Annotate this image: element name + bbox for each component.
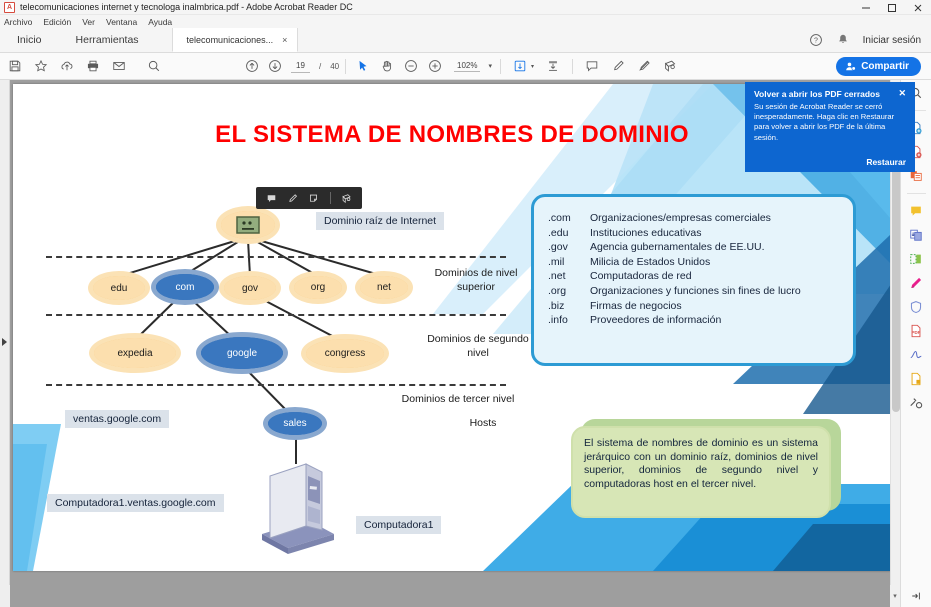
notification-body: Su sesión de Acrobat Reader se cerró ine…: [754, 102, 906, 143]
node-gov-label: gov: [242, 283, 258, 294]
tld-row: .edu Instituciones educativas: [548, 226, 843, 241]
hand-tool-icon[interactable]: [380, 59, 394, 73]
tab-herramientas[interactable]: Herramientas: [59, 28, 156, 52]
node-congress-inner: congress: [306, 339, 384, 368]
acrobat-app-icon: A: [4, 2, 15, 13]
compress-pdf-icon[interactable]: [907, 250, 925, 268]
share-label: Compartir: [861, 61, 909, 72]
floating-annotation-toolbar: [256, 187, 362, 209]
highlight-icon[interactable]: [611, 59, 625, 73]
tld-desc: Organizaciones/empresas comerciales: [590, 211, 843, 226]
previous-page-icon[interactable]: [245, 59, 259, 73]
chevron-down-icon[interactable]: ▾: [488, 62, 492, 70]
comment-tool-icon[interactable]: [907, 202, 925, 220]
print-icon[interactable]: [86, 59, 100, 73]
tld-name: .biz: [548, 299, 590, 314]
node-sales[interactable]: sales: [268, 412, 322, 435]
window-title: telecomunicaciones internet y tecnologa …: [20, 2, 353, 12]
label-second-level-domains: Dominios de segundo nivel: [423, 332, 533, 360]
tld-desc: Computadoras de red: [590, 269, 843, 284]
tab-document-label: telecomunicaciones...: [187, 35, 274, 45]
summary-text-box: El sistema de nombres de dominio es un s…: [571, 426, 831, 518]
notification-title: Volver a abrir los PDF cerrados: [754, 89, 880, 99]
callout-computadora1-fqdn: Computadora1.ventas.google.com: [47, 494, 224, 512]
menu-bar: Archivo Edición Ver Ventana Ayuda: [0, 15, 931, 28]
tab-document[interactable]: telecomunicaciones... ×: [172, 28, 299, 52]
share-person-icon: [845, 61, 856, 72]
tld-name: .org: [548, 284, 590, 299]
node-net-inner: net: [360, 276, 408, 299]
callout-ventas-google-com: ventas.google.com: [65, 410, 169, 428]
sign-in-button[interactable]: Iniciar sesión: [863, 35, 921, 46]
add-comment-icon[interactable]: [266, 193, 277, 204]
node-org-label: org: [311, 282, 325, 293]
node-com-inner: com: [156, 274, 214, 300]
callout-root-domain: Dominio raíz de Internet: [316, 212, 444, 230]
toolbar-divider-2: [500, 59, 501, 74]
node-root-inner: [221, 211, 275, 239]
node-edu[interactable]: edu: [93, 276, 145, 300]
star-icon[interactable]: [34, 59, 48, 73]
zoom-out-icon[interactable]: [404, 59, 418, 73]
node-google[interactable]: google: [201, 337, 283, 369]
node-net[interactable]: net: [360, 276, 408, 299]
menu-archivo[interactable]: Archivo: [4, 17, 32, 27]
help-icon[interactable]: ?: [809, 33, 823, 47]
node-com[interactable]: com: [156, 274, 214, 300]
more-tools-icon[interactable]: [907, 394, 925, 412]
tld-row: .com Organizaciones/empresas comerciales: [548, 211, 843, 226]
erase-icon[interactable]: [637, 59, 651, 73]
window-controls: [853, 0, 931, 15]
tld-row: .biz Firmas de negocios: [548, 299, 843, 314]
expand-navigation-pane-icon[interactable]: [2, 338, 7, 346]
tld-row: .org Organizaciones y funciones sin fine…: [548, 284, 843, 299]
tld-name: .info: [548, 313, 590, 328]
node-expedia[interactable]: expedia: [94, 338, 176, 368]
minimize-icon[interactable]: [853, 0, 879, 15]
tld-row: .mil Milicia de Estados Unidos: [548, 255, 843, 270]
thumbnails-chevron-icon[interactable]: ▾: [531, 63, 534, 70]
bottom-bar: ▾: [0, 585, 931, 607]
node-congress-label: congress: [325, 348, 366, 359]
node-congress[interactable]: congress: [306, 339, 384, 368]
node-google-inner: google: [201, 337, 283, 369]
toolbar-divider-3: [572, 59, 573, 74]
label-third-level-domains: Dominios de tercer nivel: [383, 392, 533, 406]
search-icon[interactable]: [147, 59, 161, 73]
divider-top-second: [46, 314, 506, 316]
tld-desc: Proveedores de información: [590, 313, 843, 328]
divider-root-top: [46, 256, 506, 258]
pdf-file-icon[interactable]: PDF: [907, 322, 925, 340]
zoom-level-value[interactable]: 102%: [454, 61, 480, 72]
tab-strip-right: ? Iniciar sesión: [809, 28, 931, 52]
label-hosts: Hosts: [438, 416, 528, 430]
tld-row: .net Computadoras de red: [548, 269, 843, 284]
notification-close-icon[interactable]: ✕: [898, 89, 906, 98]
tld-desc: Milicia de Estados Unidos: [590, 255, 843, 270]
tab-close-icon[interactable]: ×: [282, 35, 287, 45]
callout-computadora1: Computadora1: [356, 516, 441, 534]
tld-desc: Organizaciones y funciones sin fines de …: [590, 284, 843, 299]
tld-desc: Instituciones educativas: [590, 226, 843, 241]
dns-tree-diagram: edu com gov org: [38, 194, 538, 554]
menu-ventana[interactable]: Ventana: [106, 17, 137, 27]
highlight-text-icon[interactable]: [287, 193, 298, 204]
select-tool-icon[interactable]: [356, 59, 370, 73]
node-google-label: google: [227, 348, 257, 359]
tld-name: .gov: [548, 240, 590, 255]
tld-row: .info Proveedores de información: [548, 313, 843, 328]
page-separator: /: [319, 62, 321, 71]
tld-name: .net: [548, 269, 590, 284]
page-number-input[interactable]: 19: [291, 59, 310, 73]
toolbar-divider-1: [345, 59, 346, 74]
tld-name: .edu: [548, 226, 590, 241]
node-sales-label: sales: [283, 418, 306, 429]
node-sales-inner: sales: [268, 412, 322, 435]
restore-button[interactable]: Restaurar: [866, 157, 906, 167]
toolbar-view-group: 102% ▾: [345, 59, 492, 74]
svg-text:?: ?: [814, 38, 818, 45]
close-icon[interactable]: [905, 0, 931, 15]
node-net-label: net: [377, 282, 391, 293]
node-com-label: com: [176, 282, 195, 293]
node-edu-label: edu: [111, 283, 128, 294]
stamp-file-icon[interactable]: [907, 370, 925, 388]
label-top-level-domains: Dominios de nivel superior: [416, 266, 536, 294]
tld-name: .mil: [548, 255, 590, 270]
next-page-icon[interactable]: [268, 59, 282, 73]
sticky-note-icon[interactable]: [308, 193, 319, 204]
node-gov[interactable]: gov: [224, 276, 276, 300]
node-expedia-inner: expedia: [94, 338, 176, 368]
toolbar-page-nav: 19 / 40: [245, 59, 339, 73]
node-edu-inner: edu: [93, 276, 145, 300]
collapse-panel-icon[interactable]: [910, 590, 922, 602]
divider-second-third: [46, 384, 506, 386]
tld-name: .com: [548, 211, 590, 226]
share-button[interactable]: Compartir: [836, 57, 921, 76]
node-gov-inner: gov: [224, 276, 276, 300]
fill-and-sign-icon[interactable]: [546, 59, 560, 73]
page-total: 40: [330, 62, 339, 71]
notification-header: Volver a abrir los PDF cerrados ✕: [754, 89, 906, 99]
email-icon[interactable]: [112, 59, 126, 73]
node-root[interactable]: [221, 211, 275, 239]
node-org-inner: org: [294, 276, 342, 299]
floating-toolbar-divider: [330, 192, 331, 204]
tld-desc: Agencia gubernamentales de EE.UU.: [590, 240, 843, 255]
node-org[interactable]: org: [294, 276, 342, 299]
upload-cloud-icon[interactable]: [60, 59, 74, 73]
menu-edicion[interactable]: Edición: [43, 17, 71, 27]
tab-inicio[interactable]: Inicio: [0, 28, 59, 52]
tld-row: .gov Agencia gubernamentales de EE.UU.: [548, 240, 843, 255]
scrollbar-down-arrow[interactable]: ▾: [890, 585, 900, 607]
stamp-annotation-icon[interactable]: [341, 193, 352, 204]
rail-divider-2: [907, 193, 926, 194]
stamp-icon[interactable]: [663, 59, 677, 73]
edit-pdf-icon[interactable]: [907, 274, 925, 292]
acrobat-reader-window: A telecomunicaciones internet y tecnolog…: [0, 0, 931, 607]
bottom-left-edge: [0, 585, 10, 607]
bottom-right-panel: [900, 585, 931, 607]
toolbar-annotation-group: ▾: [500, 59, 677, 74]
svg-text:PDF: PDF: [912, 330, 921, 335]
menu-ver[interactable]: Ver: [82, 17, 95, 27]
tld-desc: Firmas de negocios: [590, 299, 843, 314]
protect-shield-icon[interactable]: [907, 298, 925, 316]
save-icon[interactable]: [8, 59, 22, 73]
computer-tower-icon: [248, 462, 348, 557]
combine-files-icon[interactable]: [907, 226, 925, 244]
reopen-pdf-notification: Volver a abrir los PDF cerrados ✕ Su ses…: [745, 82, 915, 172]
zoom-control[interactable]: 102% ▾: [454, 61, 492, 72]
menu-ayuda[interactable]: Ayuda: [148, 17, 172, 27]
tab-strip: Inicio Herramientas telecomunicaciones..…: [0, 28, 931, 53]
tld-description-box: .com Organizaciones/empresas comerciales…: [531, 194, 856, 366]
page-thumbnails-icon[interactable]: [513, 59, 527, 73]
left-navigation-rail[interactable]: [0, 80, 10, 585]
root-server-icon: [235, 215, 261, 235]
title-bar: A telecomunicaciones internet y tecnolog…: [0, 0, 931, 15]
notification-bell-icon[interactable]: [836, 33, 850, 47]
comment-icon[interactable]: [585, 59, 599, 73]
zoom-in-icon[interactable]: [428, 59, 442, 73]
toolbar-file-group: [0, 59, 161, 73]
maximize-icon[interactable]: [879, 0, 905, 15]
node-expedia-label: expedia: [117, 348, 152, 359]
sign-signature-icon[interactable]: [907, 346, 925, 364]
main-toolbar: 19 / 40 102% ▾: [0, 53, 931, 80]
